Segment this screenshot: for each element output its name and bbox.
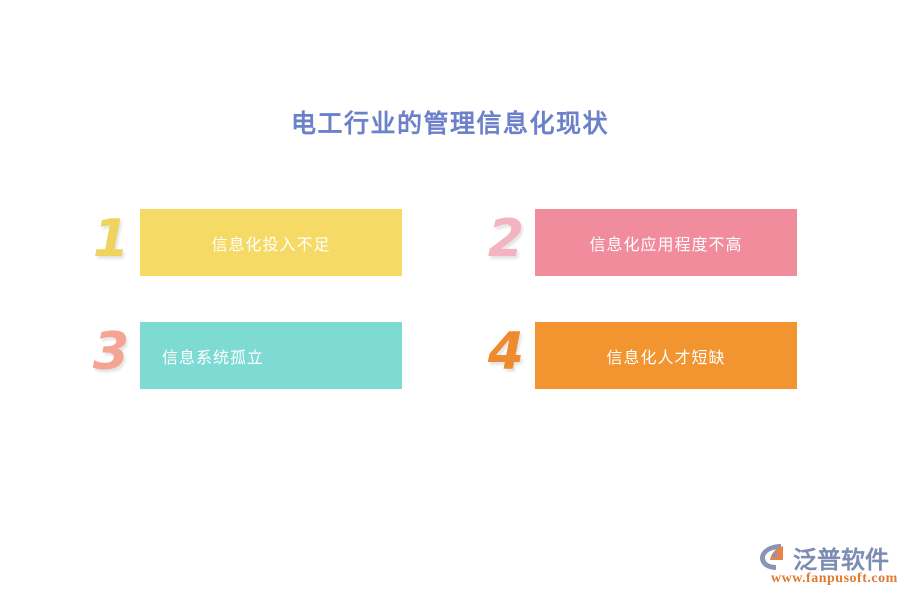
item-number-2: 2 [477,203,535,275]
item-number-3: 3 [82,316,140,388]
brand-url: www.fanpusoft.com [771,571,898,587]
slide-canvas: 电工行业的管理信息化现状 1 信息化投入不足 2 信息化应用程度不高 3 信息系… [0,0,900,600]
item-label-2: 信息化应用程度不高 [535,209,797,276]
item-bar-3: 信息系统孤立 [140,322,402,389]
item-bar-2: 信息化应用程度不高 [535,209,797,276]
brand-logo: 泛普软件 www.fanpusoft.com [757,540,890,590]
brand-name: 泛普软件 [793,540,889,575]
item-label-3: 信息系统孤立 [140,322,402,389]
item-label-4: 信息化人才短缺 [535,322,797,389]
fanpu-logo-icon [757,542,791,572]
item-number-4: 4 [477,316,535,388]
item-number-1: 1 [82,203,140,275]
page-title: 电工行业的管理信息化现状 [0,104,900,140]
item-bar-1: 信息化投入不足 [140,209,402,276]
item-bar-4: 信息化人才短缺 [535,322,797,389]
item-label-1: 信息化投入不足 [140,209,402,276]
